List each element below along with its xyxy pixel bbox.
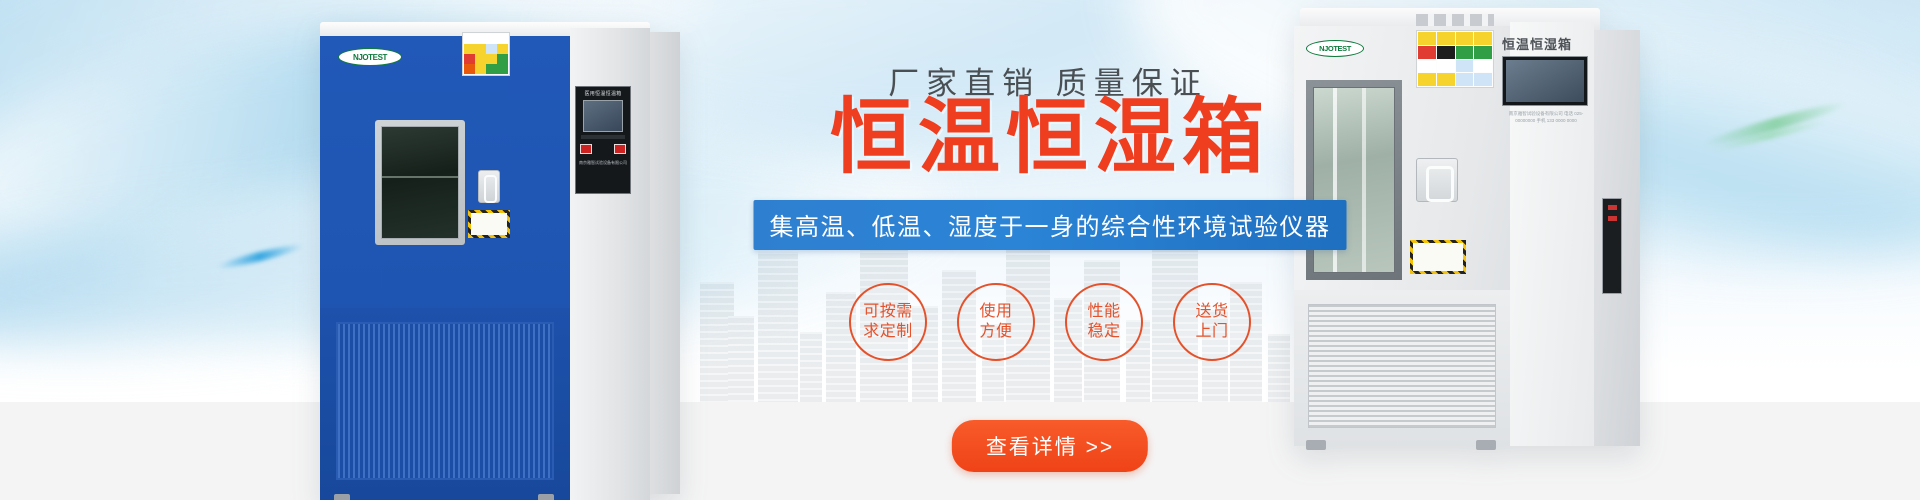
feature-circle-line1: 性能: [1087, 302, 1120, 322]
warning-pictogram: [464, 64, 475, 74]
warning-pictogram: [1474, 32, 1492, 45]
warning-pictogram: [1456, 32, 1474, 45]
feature-circle-1[interactable]: 可按需求定制: [849, 283, 927, 361]
control-panel-title-left: 医用恒温恒温箱: [579, 90, 627, 97]
warning-pictogram: [497, 64, 508, 74]
feature-circle-line2: 方便: [979, 322, 1012, 342]
feature-circle-line1: 可按需: [863, 302, 913, 322]
left-chamber-viewport: [375, 120, 465, 245]
control-strip-left: [581, 135, 625, 139]
warning-pictogram: [497, 54, 508, 64]
warning-pictogram: [1474, 73, 1492, 86]
warning-pictogram: [1418, 60, 1436, 73]
left-chamber-side-face: [646, 32, 680, 494]
warning-label-left: [462, 32, 510, 76]
left-chamber-door-handle: [478, 170, 500, 203]
right-chamber-caster: [1476, 440, 1496, 450]
warning-pictogram: [1418, 32, 1436, 45]
feature-circle-4[interactable]: 送货上门: [1173, 283, 1251, 361]
warning-pictogram: [475, 44, 486, 54]
control-panel-subtitle-left: 南京雅智试验设备有限公司: [579, 160, 627, 166]
warning-pictogram: [497, 34, 508, 44]
banner-subtitle-bar: 集高温、低温、湿度于一身的综合性环境试验仪器: [754, 200, 1347, 250]
warning-pictogram: [464, 34, 475, 44]
view-details-button[interactable]: 查看详情 >>: [952, 420, 1148, 472]
warning-pictogram: [475, 54, 486, 64]
left-chamber-glass: [381, 126, 459, 239]
warning-pictogram: [497, 44, 508, 54]
warning-pictogram: [486, 64, 497, 74]
left-chamber-caster: [538, 494, 554, 500]
brand-logo-left: NJOTEST: [338, 48, 402, 66]
left-chamber-caster: [334, 494, 350, 500]
right-chamber-door-handle: [1416, 158, 1458, 202]
feature-circle-line1: 使用: [979, 302, 1012, 322]
promo-banner: NJOTEST 医用恒温恒温箱 南京雅智试验设备有限公司 NJOTEST 恒温恒…: [0, 0, 1920, 500]
warning-pictogram: [486, 54, 497, 64]
warning-pictogram: [486, 44, 497, 54]
control-screen-left: [583, 100, 623, 132]
warning-pictogram: [1474, 46, 1492, 59]
product-image-left-chamber: NJOTEST 医用恒温恒温箱 南京雅智试验设备有限公司: [320, 22, 650, 500]
caution-sticker-left: [468, 210, 510, 238]
control-buttons-left: [580, 144, 626, 154]
feature-circle-line2: 上门: [1195, 322, 1228, 342]
warning-pictogram: [475, 64, 486, 74]
banner-headline: 恒温恒湿箱: [700, 94, 1400, 183]
feature-circle-2[interactable]: 使用方便: [957, 283, 1035, 361]
left-chamber-vent-grill: [336, 322, 554, 480]
banner-copy-block: 厂家直销 质量保证 恒温恒湿箱 集高温、低温、湿度于一身的综合性环境试验仪器 可…: [700, 0, 1400, 500]
warning-pictogram: [1437, 60, 1455, 73]
control-panel-title-right: 恒温恒湿箱: [1502, 34, 1594, 53]
warning-pictogram: [464, 54, 475, 64]
control-panel-subtitle-right: 南京雅智试验设备有限公司 电话 025-00000000 手机 133 0000…: [1502, 110, 1590, 124]
warning-pictogram: [1437, 73, 1455, 86]
warning-pictogram: [1474, 60, 1492, 73]
feature-circle-line2: 求定制: [863, 322, 913, 342]
left-chamber-control-panel: 医用恒温恒温箱 南京雅智试验设备有限公司: [575, 86, 631, 194]
warning-pictogram: [486, 34, 497, 44]
warning-pictogram: [1437, 32, 1455, 45]
warning-pictogram: [1437, 46, 1455, 59]
warning-pictogram: [464, 44, 475, 54]
feature-circle-list: 可按需求定制使用方便性能稳定送货上门: [700, 283, 1400, 361]
control-screen-right: [1502, 56, 1588, 106]
warning-pictogram: [1418, 46, 1436, 59]
warning-pictogram: [1418, 73, 1436, 86]
warning-pictogram: [1456, 60, 1474, 73]
warning-pictogram: [475, 34, 486, 44]
feature-circle-3[interactable]: 性能稳定: [1065, 283, 1143, 361]
warning-pictogram: [1456, 73, 1474, 86]
right-chamber-indicator-strip: [1602, 198, 1622, 294]
right-chamber-top-vents: [1416, 14, 1494, 26]
caution-sticker-right: [1410, 240, 1466, 274]
feature-circle-line1: 送货: [1195, 302, 1228, 322]
warning-label-right: [1416, 30, 1494, 88]
warning-pictogram: [1456, 46, 1474, 59]
feature-circle-line2: 稳定: [1087, 322, 1120, 342]
